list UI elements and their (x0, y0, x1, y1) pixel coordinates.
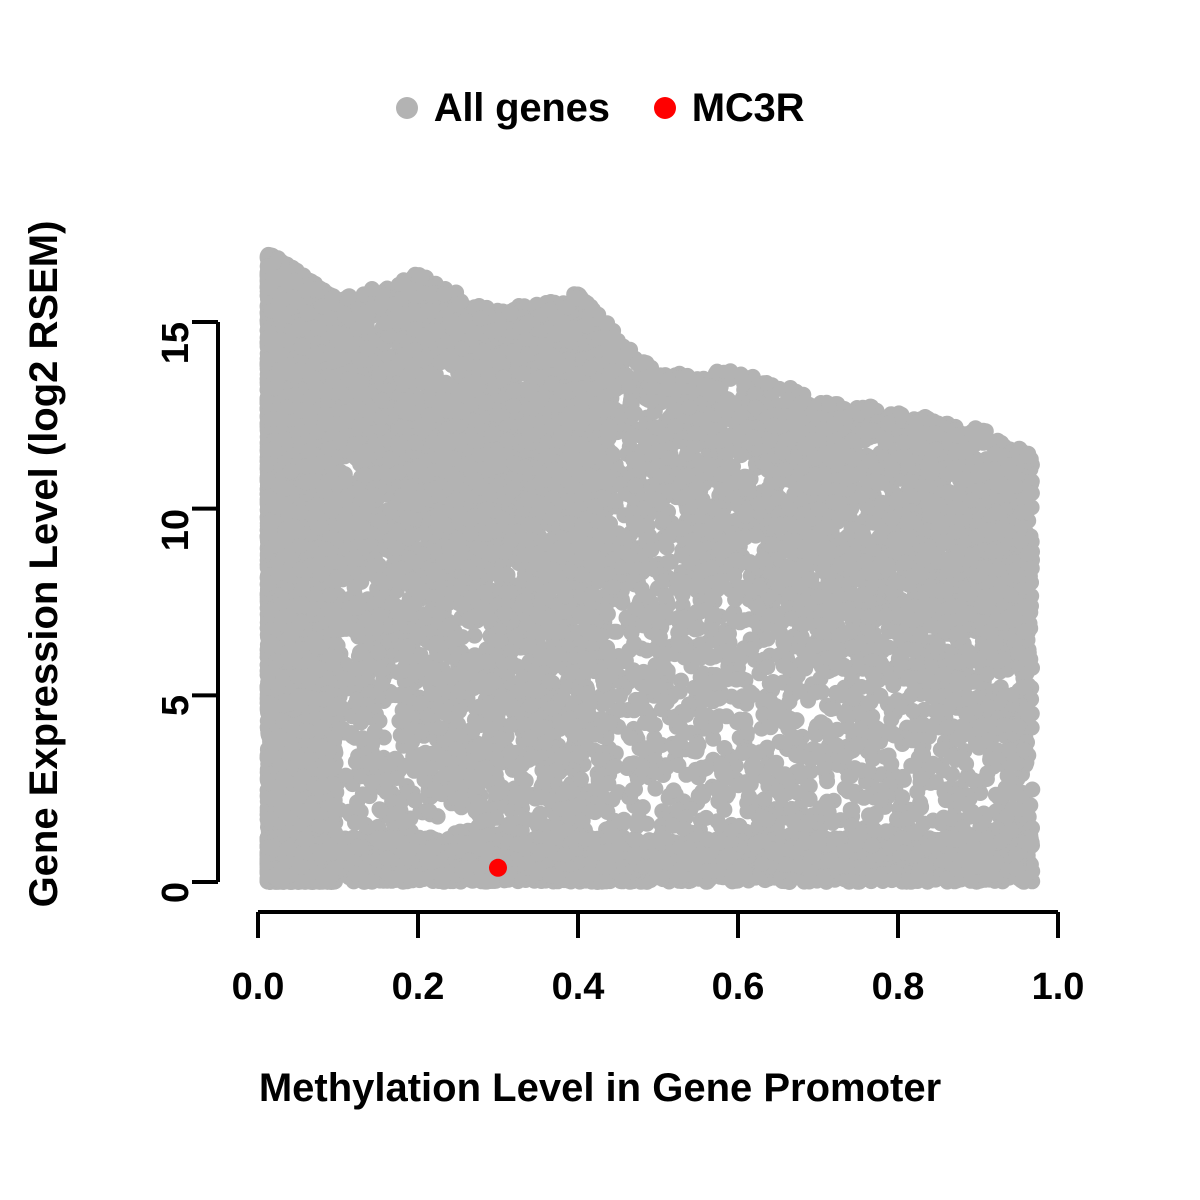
x-tick-label-1: 0.2 (392, 968, 445, 1006)
x-tick-label-4: 0.8 (872, 968, 925, 1006)
data-points-layer (260, 247, 1041, 890)
plot-area (0, 0, 1200, 1200)
y-tick-label-3: 15 (157, 322, 195, 364)
x-axis-title-text: Methylation Level in Gene Promoter (259, 1066, 941, 1110)
x-tick-label-2: 0.4 (552, 968, 605, 1006)
x-tick-label-5: 1.0 (1032, 968, 1085, 1006)
scatter-plot-figure: All genes MC3R 0.00.20.40.60.81.0 051015… (0, 0, 1200, 1200)
x-tick-label-3: 0.6 (712, 968, 765, 1006)
x-axis-title: Methylation Level in Gene Promoter (0, 1068, 1200, 1108)
x-tick-label-0: 0.0 (232, 968, 285, 1006)
highlight-point-mc3r (489, 859, 507, 877)
y-tick-label-1: 5 (157, 695, 195, 716)
plot-canvas (0, 0, 1200, 1200)
y-tick-label-0: 0 (157, 882, 195, 903)
y-tick-label-2: 10 (157, 509, 195, 551)
highlight-points-layer (489, 859, 507, 877)
